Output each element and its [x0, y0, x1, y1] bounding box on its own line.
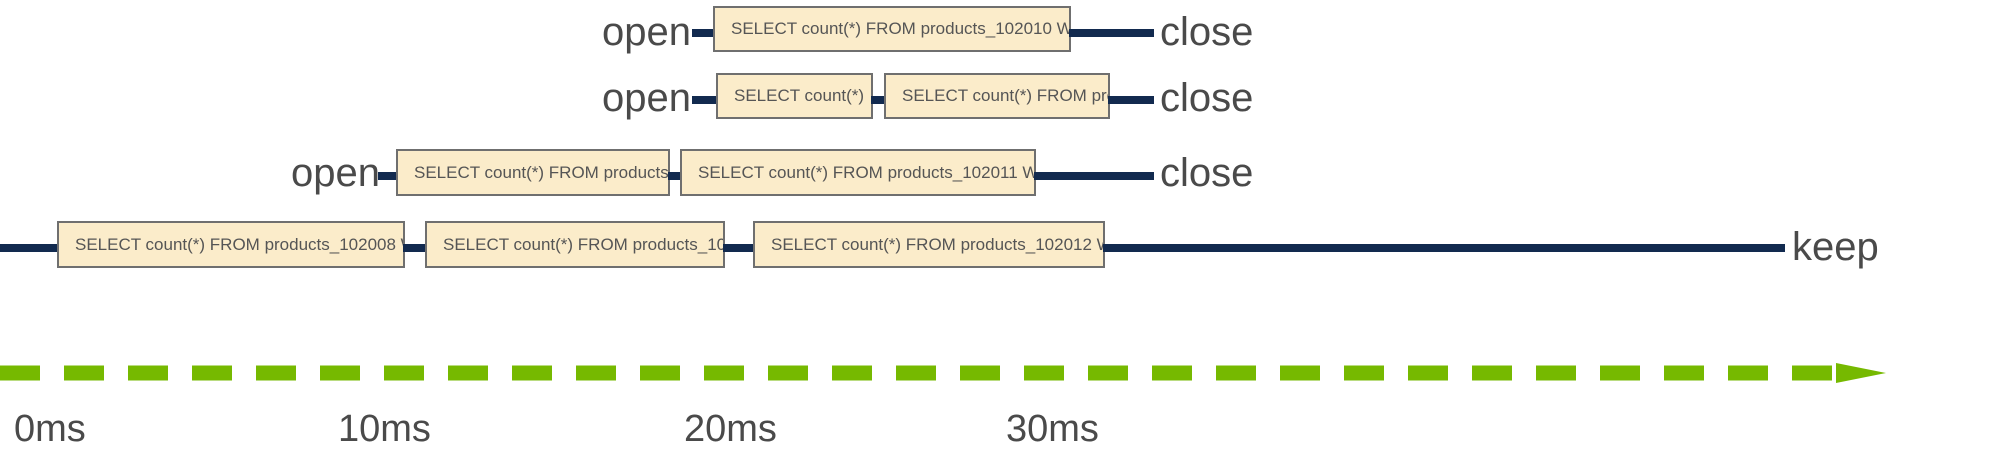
row-4-line-segment-3 [723, 244, 756, 252]
row-4-line-segment-left [0, 244, 62, 252]
row-2-query-text-1: SELECT count(*) … [734, 86, 873, 106]
row-2-query-box-2[interactable]: SELECT count(*) FROM produc [884, 73, 1110, 119]
row-3-query-box-2[interactable]: SELECT count(*) FROM products_102011 WHE… [680, 149, 1036, 196]
row-2-close-label: close [1160, 78, 1253, 118]
row-2-open-label: open [602, 78, 691, 118]
row-3-close-label: close [1160, 153, 1253, 193]
row-3-line-segment-right [1034, 172, 1154, 180]
row-3-open-label: open [291, 153, 380, 193]
row-2-query-text-2: SELECT count(*) FROM produc [902, 86, 1110, 106]
row-4-query-text-3: SELECT count(*) FROM products_102012 WHE… [771, 235, 1105, 255]
row-4-query-text-1: SELECT count(*) FROM products_102008 WHE… [75, 235, 405, 255]
row-1-open-label: open [602, 12, 691, 52]
row-4-query-text-2: SELECT count(*) FROM products_102009 .. [443, 235, 725, 255]
row-3-query-text-1: SELECT count(*) FROM products_… [414, 163, 670, 183]
row-4-line-segment-right [1103, 244, 1785, 252]
axis-tick-30ms: 30ms [1006, 410, 1099, 448]
row-4-query-box-3[interactable]: SELECT count(*) FROM products_102012 WHE… [753, 221, 1105, 268]
axis-tick-20ms: 20ms [684, 410, 777, 448]
row-1-line-segment-right [1069, 29, 1154, 37]
row-3-query-box-1[interactable]: SELECT count(*) FROM products_… [396, 149, 670, 196]
row-4-keep-label: keep [1792, 227, 1879, 267]
row-1-query-box-1[interactable]: SELECT count(*) FROM products_102010 WHE… [713, 6, 1071, 52]
row-1-query-text-1: SELECT count(*) FROM products_102010 WHE… [731, 19, 1071, 39]
row-3-query-text-2: SELECT count(*) FROM products_102011 WHE… [698, 163, 1036, 183]
row-2-line-segment-right [1108, 96, 1154, 104]
row-4-query-box-2[interactable]: SELECT count(*) FROM products_102009 .. [425, 221, 725, 268]
row-2-query-box-1[interactable]: SELECT count(*) … [716, 73, 873, 119]
timeline-diagram: open SELECT count(*) FROM products_10201… [0, 0, 2000, 476]
axis-tick-10ms: 10ms [338, 410, 431, 448]
row-2-line-segment-left [692, 96, 718, 104]
time-axis-arrow-icon [0, 362, 1890, 384]
row-4-query-box-1[interactable]: SELECT count(*) FROM products_102008 WHE… [57, 221, 405, 268]
row-1-close-label: close [1160, 12, 1253, 52]
axis-tick-0ms: 0ms [14, 410, 86, 448]
